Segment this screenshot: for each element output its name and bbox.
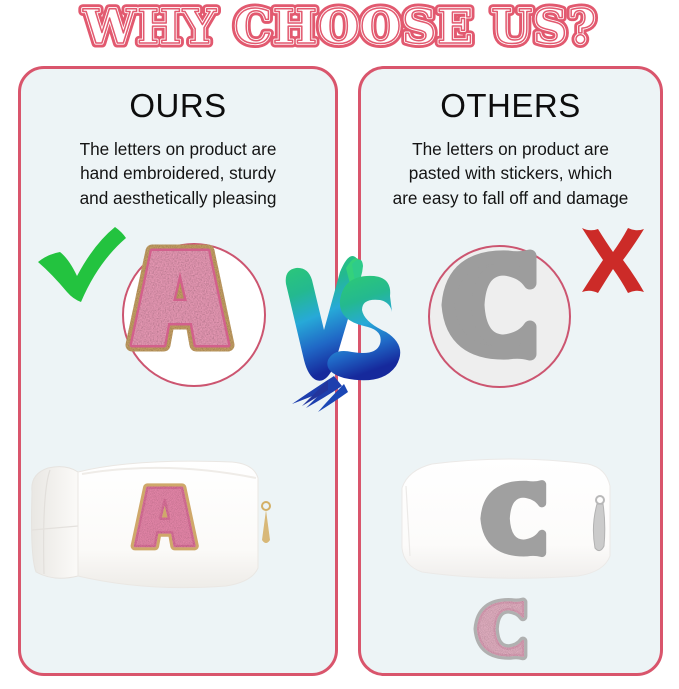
panel-others-body-line-3: are easy to fall off and damage <box>375 186 646 210</box>
panel-others-body-line-2: pasted with stickers, which <box>375 161 646 185</box>
detached-chenille-patch-c <box>462 592 534 670</box>
panel-others-heading: OTHERS <box>361 87 660 125</box>
product-bag-ours <box>26 448 294 598</box>
title-inline-layer: WHY CHOOSE US? <box>82 0 596 55</box>
panel-ours-body-line-1: The letters on product are <box>35 137 321 161</box>
panel-ours-body: The letters on product are hand embroide… <box>35 137 321 210</box>
green-check-icon <box>36 226 128 309</box>
product-bag-others <box>392 452 628 584</box>
flat-sticker-letter-c-icon <box>430 247 569 386</box>
panel-ours-heading: OURS <box>21 87 335 125</box>
red-cross-icon <box>578 226 648 301</box>
zipper-pull-gold <box>262 502 270 543</box>
panel-others-body-line-1: The letters on product are <box>375 137 646 161</box>
page-title: .t-outer { font-family: "DejaVu Serif", … <box>0 2 679 58</box>
badge-circle-ours <box>122 243 266 387</box>
panel-ours-body-line-3: and aesthetically pleasing <box>35 186 321 210</box>
panel-ours-body-line-2: hand embroidered, sturdy <box>35 161 321 185</box>
chenille-letter-a-icon <box>124 245 264 385</box>
title-outlined-text: .t-outer { font-family: "DejaVu Serif", … <box>30 3 650 57</box>
badge-circle-others <box>428 245 571 388</box>
panel-others-body: The letters on product are pasted with s… <box>375 137 646 210</box>
infographic-canvas: .t-outer { font-family: "DejaVu Serif", … <box>0 0 679 689</box>
vs-brush-graphic <box>272 248 410 430</box>
